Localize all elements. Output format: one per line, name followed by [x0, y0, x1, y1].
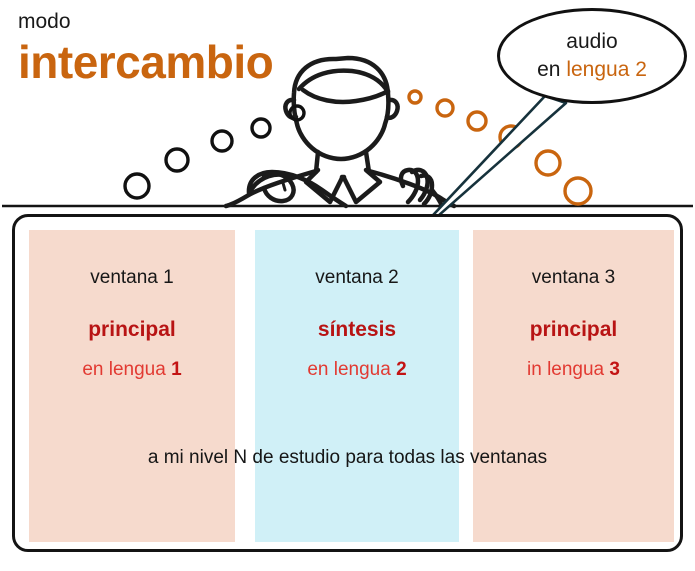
window-1-language-number: 1	[171, 359, 182, 380]
speech-bubble-line-1: audio	[566, 28, 617, 56]
window-2-language-prefix: en lengua	[307, 359, 396, 380]
window-3-language-number: 3	[609, 359, 620, 380]
window-1-language: en lengua 1	[29, 357, 235, 382]
window-1-language-prefix: en lengua	[82, 359, 171, 380]
window-2-language-number: 2	[396, 359, 407, 380]
orange-circle	[409, 91, 421, 103]
orange-circle	[500, 126, 522, 148]
black-circle	[212, 131, 232, 151]
window-3-language: in lengua 3	[473, 357, 674, 382]
speech-bubble: audio en lengua 2	[497, 8, 687, 104]
speech-bubble-language-highlight: lengua 2	[566, 58, 647, 81]
panel-footnote: a mi nivel N de estudio para todas las v…	[15, 447, 680, 469]
speech-bubble-line-2: en lengua 2	[537, 56, 647, 84]
orange-circle	[437, 100, 453, 116]
mode-label: modo	[18, 10, 348, 34]
windows-columns-row: ventana 1 principal en lengua 1 ventana …	[15, 217, 680, 549]
window-2-language: en lengua 2	[255, 357, 459, 382]
page-title: intercambio	[18, 36, 348, 88]
black-circle	[125, 174, 149, 198]
window-3-role: principal	[473, 317, 674, 343]
window-column-1[interactable]: ventana 1 principal en lengua 1	[29, 230, 235, 542]
black-circle	[166, 149, 188, 171]
windows-panel: ventana 1 principal en lengua 1 ventana …	[12, 214, 683, 552]
black-circle	[290, 106, 304, 120]
window-1-name: ventana 1	[29, 266, 235, 290]
window-3-name: ventana 3	[473, 266, 674, 290]
speech-bubble-line-2-prefix: en	[537, 58, 566, 81]
black-circles-group	[125, 106, 304, 198]
window-1-role: principal	[29, 317, 235, 343]
orange-circles-group	[409, 91, 591, 204]
header: modo intercambio	[18, 10, 348, 88]
accent-tick	[283, 183, 285, 190]
black-circle	[252, 119, 270, 137]
orange-circle	[565, 178, 591, 204]
window-2-role: síntesis	[255, 317, 459, 343]
orange-circle	[536, 151, 560, 175]
window-column-2[interactable]: ventana 2 síntesis en lengua 2	[255, 230, 459, 542]
window-3-language-prefix: in lengua	[527, 359, 609, 380]
window-2-name: ventana 2	[255, 266, 459, 290]
window-column-3[interactable]: ventana 3 principal in lengua 3	[473, 230, 674, 542]
orange-circle	[468, 112, 486, 130]
